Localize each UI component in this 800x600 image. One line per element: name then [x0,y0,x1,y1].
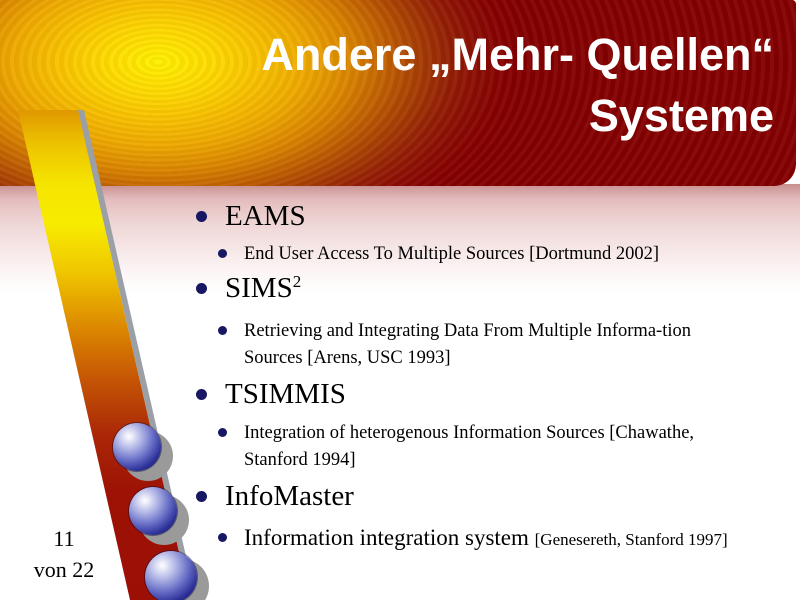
bullet-label-level2: Retrieving and Integrating Data From Mul… [244,318,738,372]
bullet-label-level1: InfoMaster [225,480,354,513]
bullet-label-level1: SIMS2 [225,272,301,305]
bullet-marker-level1 [196,283,207,294]
bullet-label-level2: Information integration system [Genesere… [244,522,728,555]
bullet-marker-level1 [196,491,207,502]
bullet-marker-level1 [196,211,207,222]
bullet-item-level2: Integration of heterogenous Information … [218,420,708,474]
bullet-label-text: Information integration system [244,525,535,550]
bullet-marker-level2 [218,533,227,542]
slide-content: EAMS End User Access To Multiple Sources… [0,0,800,600]
bullet-label-level2: Integration of heterogenous Information … [244,420,708,474]
bullet-label-level1: EAMS [225,200,306,233]
bullet-item-level2: End User Access To Multiple Sources [Dor… [218,241,778,268]
bullet-marker-level1 [196,389,207,400]
page-number-indicator: 11 von 22 [12,523,116,585]
bullet-marker-level2 [218,326,227,335]
superscript-exponent: 2 [293,272,302,291]
citation-reference: [Genesereth, Stanford 1997] [535,530,728,549]
bullet-item-level2: Retrieving and Integrating Data From Mul… [218,318,738,372]
bullet-label-text: SIMS [225,272,293,304]
bullet-item-level1: InfoMaster [196,480,776,513]
bullet-item-level1: EAMS [196,200,776,233]
bullet-marker-level2 [218,249,227,258]
bullet-label-level2: End User Access To Multiple Sources [Dor… [244,241,659,268]
bullet-item-level2: Information integration system [Genesere… [218,522,748,555]
bullet-label-level1: TSIMMIS [225,378,346,411]
bullet-item-level1: SIMS2 [196,272,776,305]
slide-canvas: Andere „Mehr- Quellen“ Systeme [0,0,800,600]
bullet-marker-level2 [218,428,227,437]
bullet-item-level1: TSIMMIS [196,378,776,411]
